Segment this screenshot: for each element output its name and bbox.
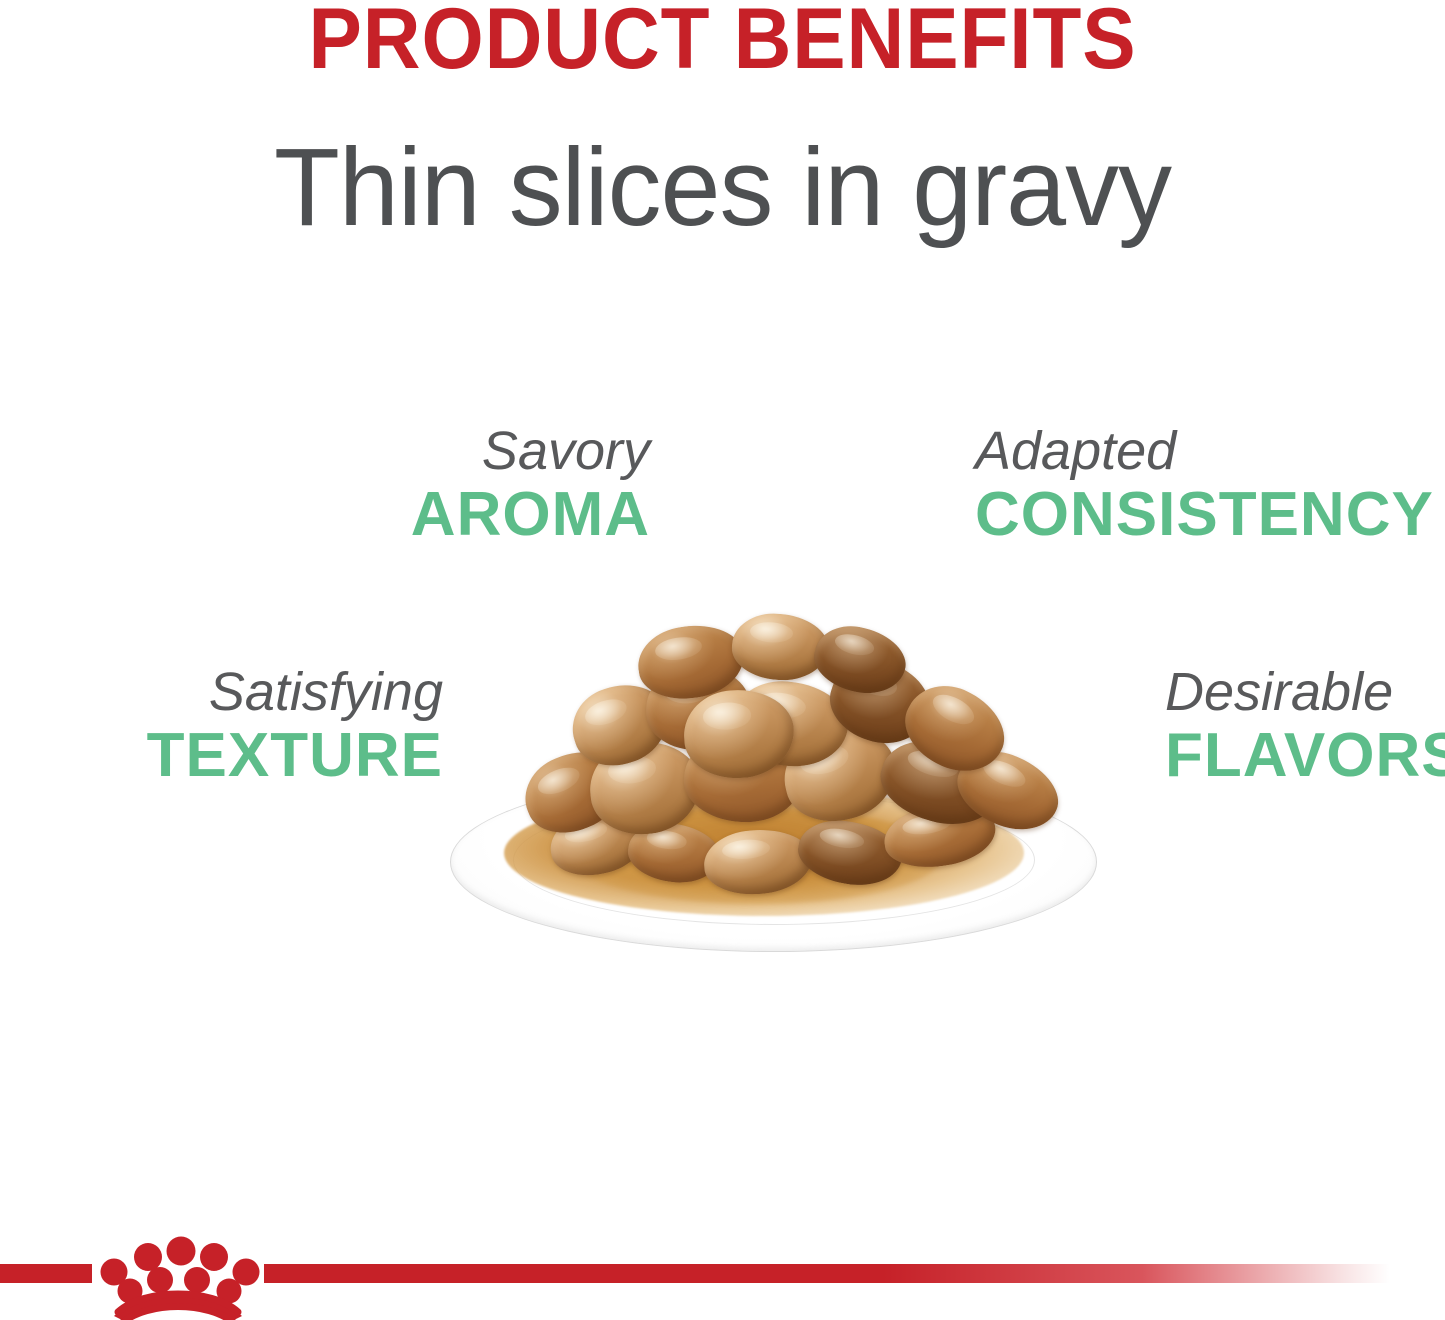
benefit-consistency-adjective: Adapted bbox=[975, 424, 1445, 478]
page-title: PRODUCT BENEFITS bbox=[51, 0, 1395, 82]
benefit-flavors-noun: FLAVORS bbox=[1165, 725, 1445, 787]
footer-rule-left bbox=[0, 1264, 92, 1283]
benefit-consistency-noun: CONSISTENCY bbox=[975, 484, 1445, 546]
footer-rule-right bbox=[264, 1264, 1390, 1283]
benefit-flavors-adjective: Desirable bbox=[1165, 665, 1445, 719]
benefit-aroma-adjective: Savory bbox=[0, 424, 650, 478]
benefit-texture-noun: TEXTURE bbox=[0, 725, 443, 787]
product-photo-plate-of-food bbox=[432, 594, 1112, 966]
footer bbox=[0, 1228, 1445, 1320]
benefit-texture: Satisfying TEXTURE bbox=[0, 665, 443, 787]
benefit-texture-adjective: Satisfying bbox=[0, 665, 443, 719]
benefit-aroma: Savory AROMA bbox=[0, 424, 650, 546]
page-subtitle: Thin slices in gravy bbox=[14, 122, 1430, 254]
royal-canin-crown-icon bbox=[92, 1228, 264, 1320]
benefit-aroma-noun: AROMA bbox=[0, 484, 650, 546]
benefit-consistency: Adapted CONSISTENCY bbox=[790, 424, 1445, 546]
product-benefits-infographic: PRODUCT BENEFITS Thin slices in gravy Sa… bbox=[0, 0, 1445, 1320]
